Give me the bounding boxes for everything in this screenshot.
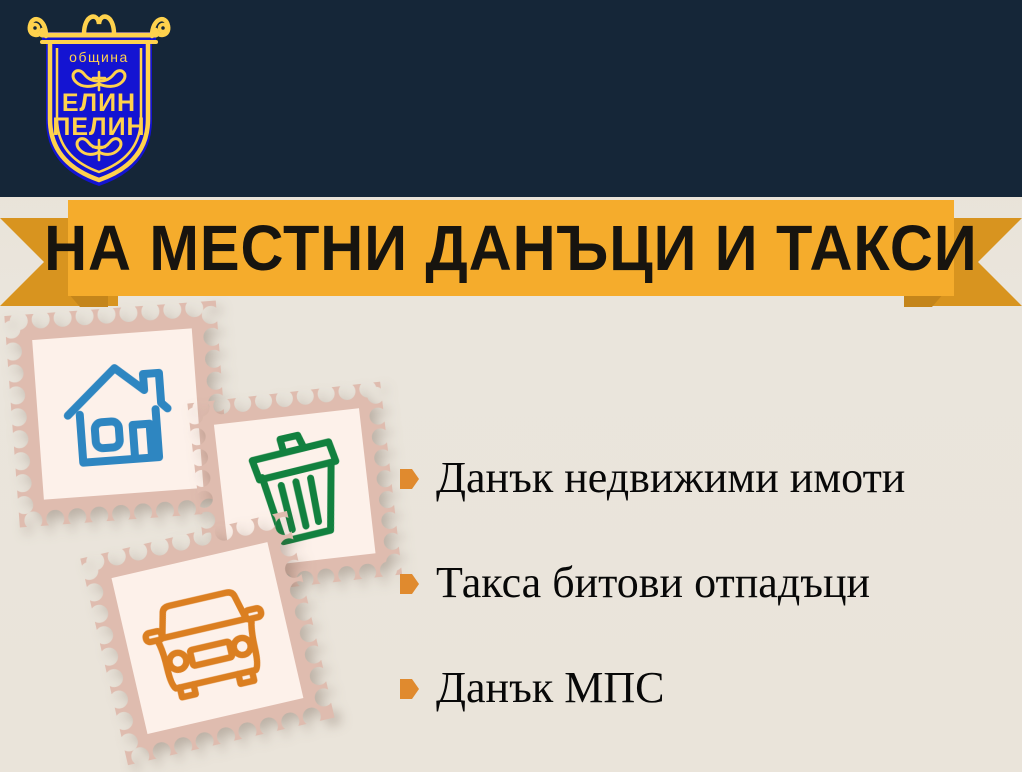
list-item-label: Данък недвижими имоти <box>436 454 905 502</box>
stamp-collage <box>0 300 430 772</box>
ribbon-main-panel: НА МЕСТНИ ДАНЪЦИ И ТАКСИ <box>68 200 954 296</box>
crest-svg: община ЕЛИН ПЕЛИН <box>24 8 174 190</box>
arrow-bullet-icon <box>400 678 419 700</box>
tax-type-list: Данък недвижими имоти Такса битови отпад… <box>400 425 1010 740</box>
municipality-crest-logo: община ЕЛИН ПЕЛИН <box>24 8 174 190</box>
arrow-bullet-icon <box>400 573 419 595</box>
crest-volute-left-eye <box>32 25 39 32</box>
crest-center-scroll <box>84 17 114 34</box>
list-item[interactable]: Такса битови отпадъци <box>400 530 1010 635</box>
stamp-paper <box>32 328 203 499</box>
ribbon-banner: НА МЕСТНИ ДАНЪЦИ И ТАКСИ <box>0 196 1022 306</box>
crest-volute-right-eye <box>160 25 167 32</box>
ribbon-subtitle: НА МЕСТНИ ДАНЪЦИ И ТАКСИ <box>44 216 977 280</box>
poster-canvas: ПРОВЕРКА И ПЛАЩАНЕ НА ЗАДЪЛЖЕНИЯ <box>0 0 1022 772</box>
crest-label-obshtina: община <box>69 49 129 65</box>
list-item[interactable]: Данък МПС <box>400 635 1010 740</box>
list-item-label: Данък МПС <box>436 664 664 712</box>
list-item-label: Такса битови отпадъци <box>436 559 870 607</box>
crest-label-pelin: ПЕЛИН <box>52 113 145 141</box>
list-item[interactable]: Данък недвижими имоти <box>400 425 1010 530</box>
arrow-bullet-icon <box>400 468 419 490</box>
